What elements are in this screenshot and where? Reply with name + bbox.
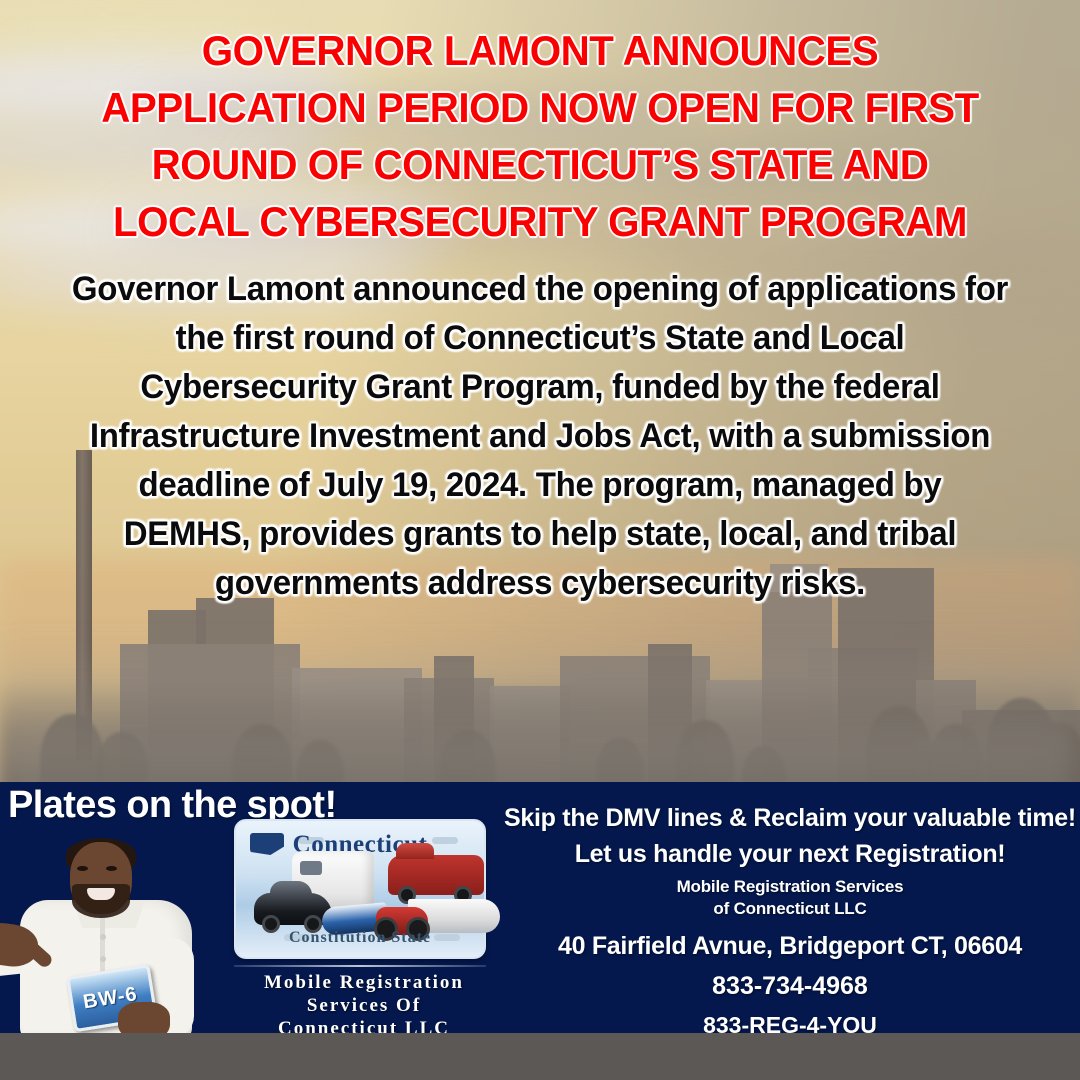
body-line: DEMHS, provides grants to help state, lo…: [24, 510, 1056, 559]
car-icon: [254, 893, 332, 925]
body-line: Governor Lamont announced the opening of…: [24, 265, 1056, 314]
body-line: Cybersecurity Grant Program, funded by t…: [24, 363, 1056, 412]
contact-phone-vanity[interactable]: 833-REG-4-YOU: [500, 1012, 1080, 1033]
company-name-line: Services Of: [230, 994, 498, 1017]
poster: GOVERNOR LAMONT ANNOUNCES APPLICATION PE…: [0, 0, 1080, 1080]
body-line: Infrastructure Investment and Jobs Act, …: [24, 412, 1056, 461]
headline-line: LOCAL CYBERSECURITY GRANT PROGRAM: [22, 193, 1059, 250]
bottom-bar: [0, 1033, 1080, 1080]
truck-icon: [388, 855, 484, 895]
plate-motto-label: Constitution State: [236, 929, 484, 947]
headline-line: ROUND OF CONNECTICUT’S STATE AND: [22, 136, 1059, 193]
contact-company-1: Mobile Registration Services: [500, 877, 1080, 897]
contact-block: Skip the DMV lines & Reclaim your valuab…: [500, 804, 1080, 1033]
body-line: deadline of July 19, 2024. The program, …: [24, 461, 1056, 510]
body-text: Governor Lamont announced the opening of…: [24, 265, 1056, 608]
advertisement-banner: Plates on the spot! BW-6: [0, 782, 1080, 1033]
body-line: the first round of Connecticut’s State a…: [24, 314, 1056, 363]
page-title: GOVERNOR LAMONT ANNOUNCES APPLICATION PE…: [22, 22, 1059, 250]
company-logo: Connecticut Constitution State Mobile Re…: [230, 819, 498, 1029]
divider: [234, 965, 486, 967]
connecticut-license-plate-icon: Connecticut Constitution State: [234, 819, 486, 959]
contact-headline: Skip the DMV lines & Reclaim your valuab…: [500, 804, 1080, 833]
headline-line: GOVERNOR LAMONT ANNOUNCES: [22, 22, 1059, 79]
contact-phone[interactable]: 833-734-4968: [500, 972, 1080, 1001]
contact-address: 40 Fairfield Avnue, Bridgeport CT, 06604: [500, 932, 1080, 961]
body-line: governments address cybersecurity risks.: [24, 559, 1056, 608]
company-name-line: Mobile Registration: [230, 971, 498, 994]
contact-company-2: of Connecticut LLC: [500, 899, 1080, 919]
headline-line: APPLICATION PERIOD NOW OPEN FOR FIRST: [22, 79, 1059, 136]
company-name: Mobile Registration Services Of Connecti…: [230, 971, 498, 1033]
contact-subhead: Let us handle your next Registration!: [500, 840, 1080, 869]
spokesperson-photo: BW-6: [0, 838, 207, 1033]
company-name-line: Connecticut LLC: [230, 1017, 498, 1033]
